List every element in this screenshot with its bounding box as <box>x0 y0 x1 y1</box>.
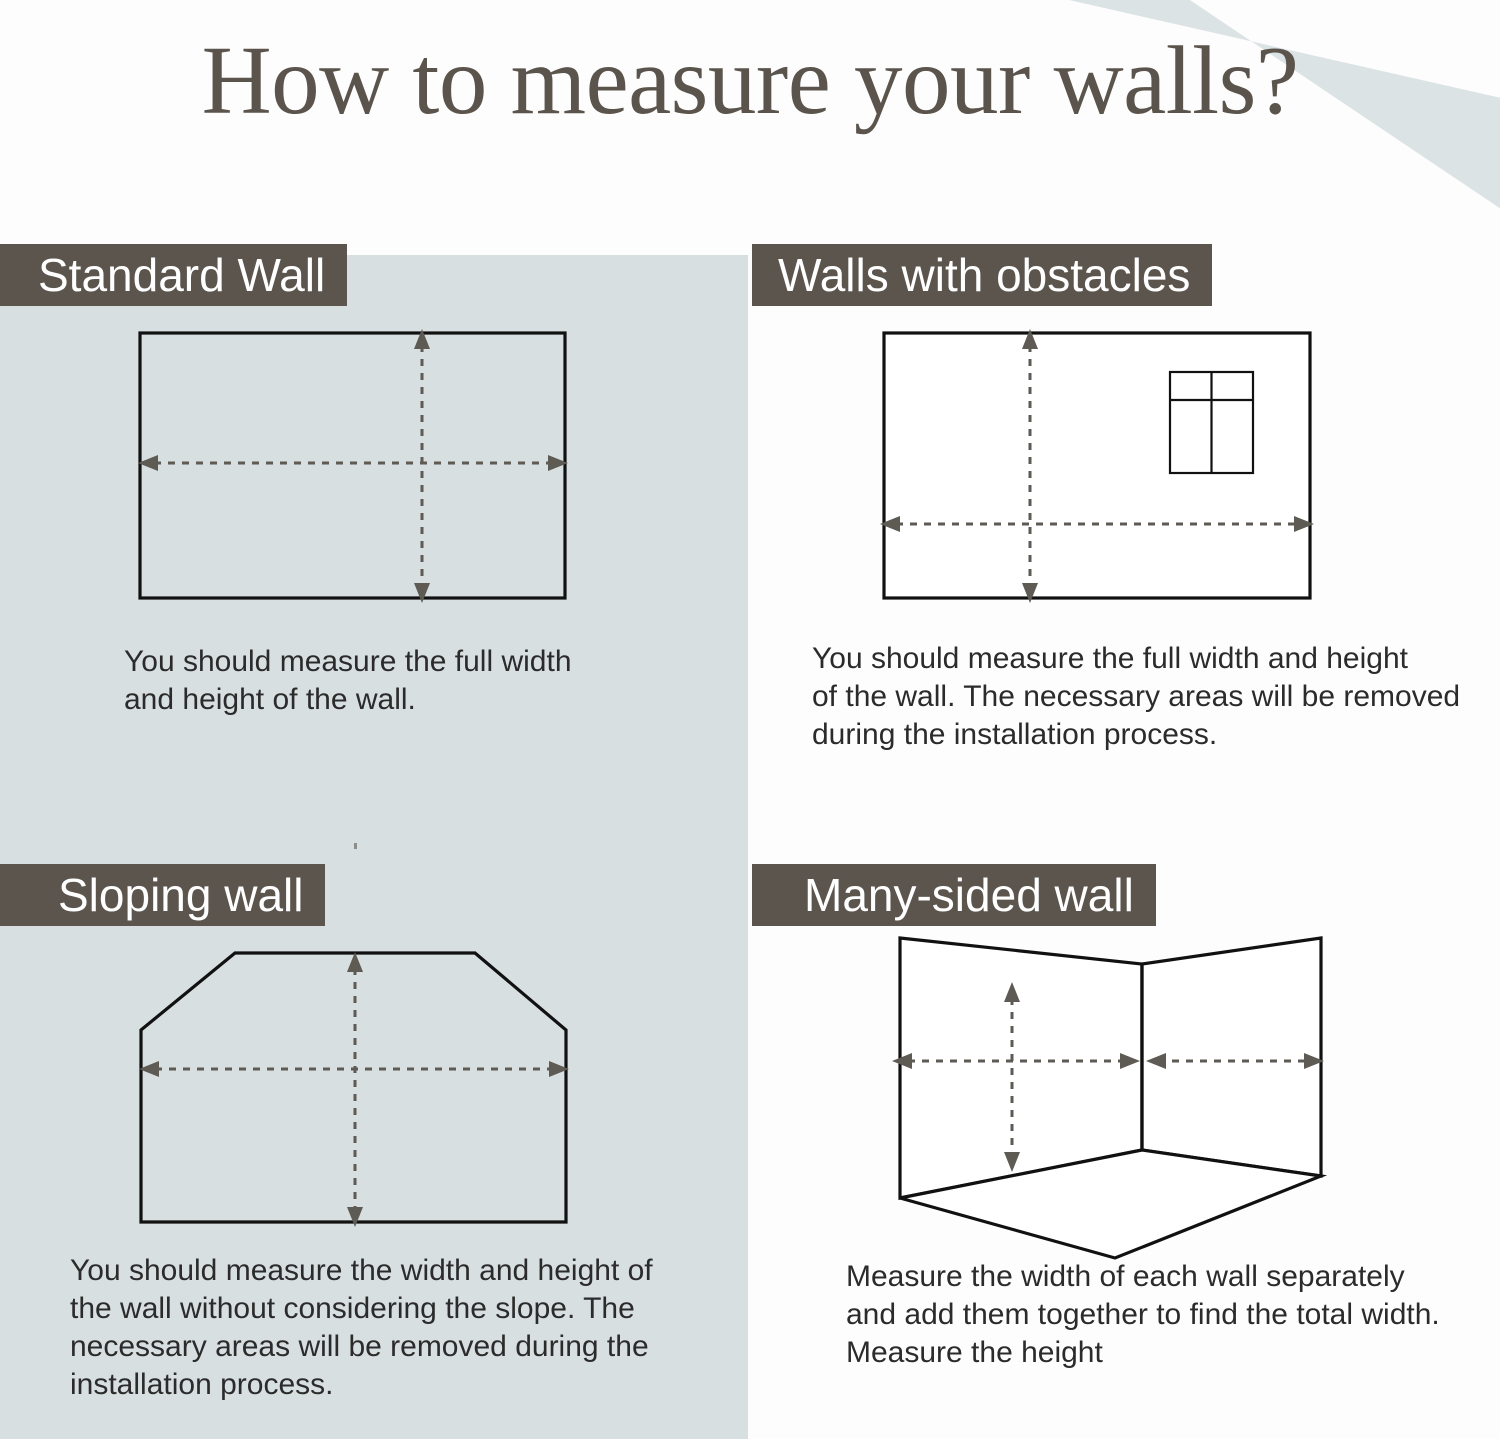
standard-wall-diagram <box>110 315 610 630</box>
wall-outline <box>140 333 565 598</box>
stray-mark <box>354 843 357 849</box>
section-heading-sloping-wall: Sloping wall <box>0 864 325 926</box>
corner-room-diagram <box>860 920 1360 1285</box>
standard-wall-svg <box>110 315 610 625</box>
caption-standard-wall: You should measure the full width and he… <box>124 643 684 719</box>
corner-room-svg <box>860 920 1360 1280</box>
wall-with-window-svg <box>860 315 1360 625</box>
section-heading-walls-with-obstacles: Walls with obstacles <box>752 244 1212 306</box>
page-title: How to measure your walls? <box>0 30 1500 132</box>
right-wall-face <box>1142 938 1321 1176</box>
infographic-page: How to measure your walls? Standard Wall… <box>0 0 1500 1439</box>
height-arrow-down <box>347 1207 363 1227</box>
caption-walls-with-obstacles: You should measure the full width and he… <box>812 640 1472 754</box>
caption-many-sided-wall: Measure the width of each wall separatel… <box>846 1258 1466 1372</box>
caption-sloping-wall: You should measure the width and height … <box>70 1252 690 1404</box>
sloping-wall-svg <box>110 930 610 1240</box>
sloping-wall-diagram <box>110 930 610 1245</box>
wall-with-window-diagram <box>860 315 1360 630</box>
height-arrow-down <box>414 583 430 603</box>
section-heading-standard-wall: Standard Wall <box>0 244 347 306</box>
section-heading-many-sided-wall: Many-sided wall <box>752 864 1156 926</box>
height-arrow-up <box>347 952 363 972</box>
